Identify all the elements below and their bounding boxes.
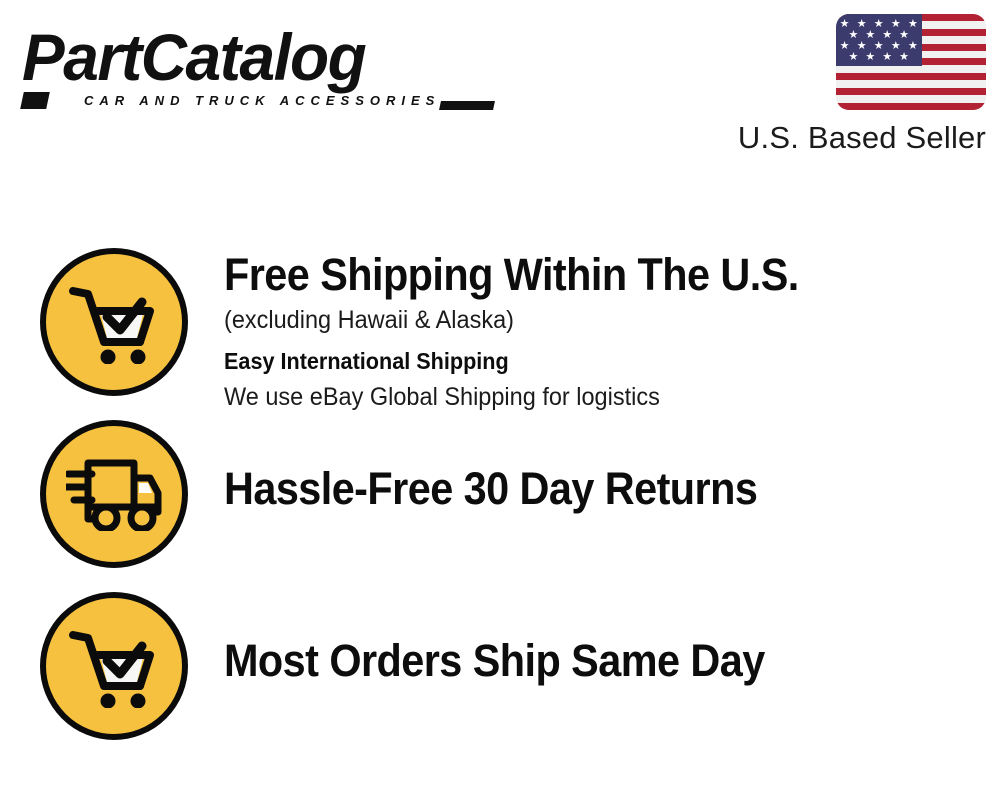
feature-row-returns: Hassle-Free 30 Day Returns xyxy=(40,420,970,568)
feature-headline: Hassle-Free 30 Day Returns xyxy=(224,464,757,514)
flag-stripe xyxy=(836,88,986,95)
feature-headline: Most Orders Ship Same Day xyxy=(224,636,765,686)
feature-text-block: Free Shipping Within The U.S. (excluding… xyxy=(224,248,849,414)
feature-subnote: We use eBay Global Shipping for logistic… xyxy=(224,381,811,414)
us-flag-icon: ★★★★★ ★★★★ ★★★★★ ★★★★ xyxy=(836,14,986,110)
flag-canton: ★★★★★ ★★★★ ★★★★★ ★★★★ xyxy=(836,14,922,66)
us-based-seller-block: ★★★★★ ★★★★ ★★★★★ ★★★★ U.S. Based Seller xyxy=(716,14,986,155)
feature-subheading: Easy International Shipping xyxy=(224,346,811,377)
feature-text-block: Hassle-Free 30 Day Returns xyxy=(224,420,804,514)
flag-star-row: ★★★★ xyxy=(836,52,922,63)
brand-logo: PartCatalog CAR AND TRUCK ACCESSORIES xyxy=(22,22,492,114)
logo-accent-right xyxy=(439,101,495,110)
shopping-cart-check-icon xyxy=(40,592,188,740)
feature-row-same-day: Most Orders Ship Same Day xyxy=(40,592,970,740)
flag-stripe xyxy=(836,80,986,87)
brand-tagline: CAR AND TRUCK ACCESSORIES xyxy=(84,93,492,108)
shopping-cart-check-icon xyxy=(40,248,188,396)
feature-row-free-shipping: Free Shipping Within The U.S. (excluding… xyxy=(40,248,970,414)
feature-text-block: Most Orders Ship Same Day xyxy=(224,592,812,686)
flag-stripe xyxy=(836,73,986,80)
feature-note: (excluding Hawaii & Alaska) xyxy=(224,304,811,337)
us-based-seller-label: U.S. Based Seller xyxy=(716,121,986,155)
logo-accent-left xyxy=(20,92,50,109)
flag-stripe xyxy=(836,95,986,102)
flag-stripe xyxy=(836,103,986,110)
delivery-truck-icon xyxy=(40,420,188,568)
flag-stripe xyxy=(836,66,986,73)
promo-banner: PartCatalog CAR AND TRUCK ACCESSORIES ★★… xyxy=(0,0,1000,800)
brand-wordmark: PartCatalog xyxy=(22,22,478,92)
feature-headline: Free Shipping Within The U.S. xyxy=(224,250,799,300)
